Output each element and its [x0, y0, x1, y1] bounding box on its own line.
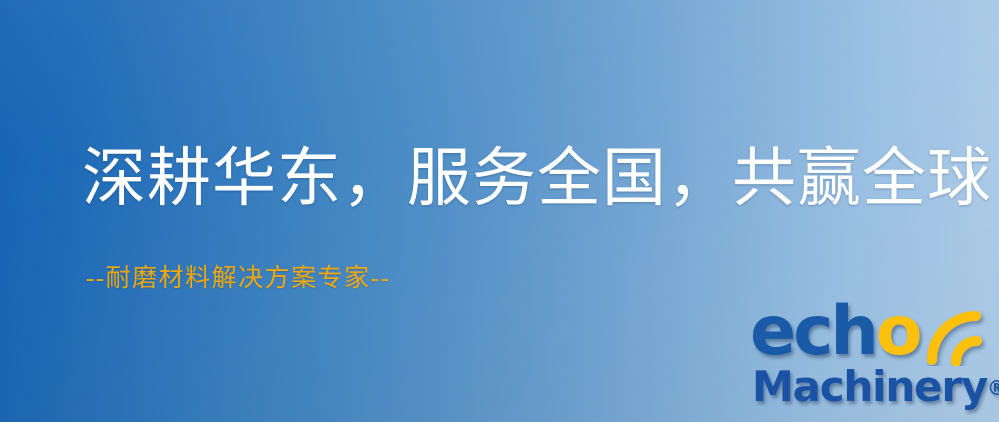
banner-headline: 深耕华东，服务全国，共赢全球	[82, 147, 992, 211]
logo-brand-name: echo	[750, 298, 920, 366]
logo-tagline-text: Machinery	[752, 362, 987, 411]
logo-brand-text-o: o	[876, 292, 920, 371]
hero-banner: 深耕华东，服务全国，共赢全球 --耐磨材料解决方案专家-- echo Machi…	[0, 0, 999, 422]
echo-signal-waves-icon	[926, 294, 999, 366]
banner-subtitle: --耐磨材料解决方案专家--	[86, 266, 390, 291]
logo-tagline: Machinery®	[752, 366, 999, 408]
logo-wordmark: echo Machinery®	[748, 296, 999, 422]
company-logo[interactable]: echo Machinery®	[748, 296, 999, 422]
logo-brand-text-ech: ech	[750, 292, 876, 371]
registered-trademark-mark: ®	[987, 376, 999, 400]
